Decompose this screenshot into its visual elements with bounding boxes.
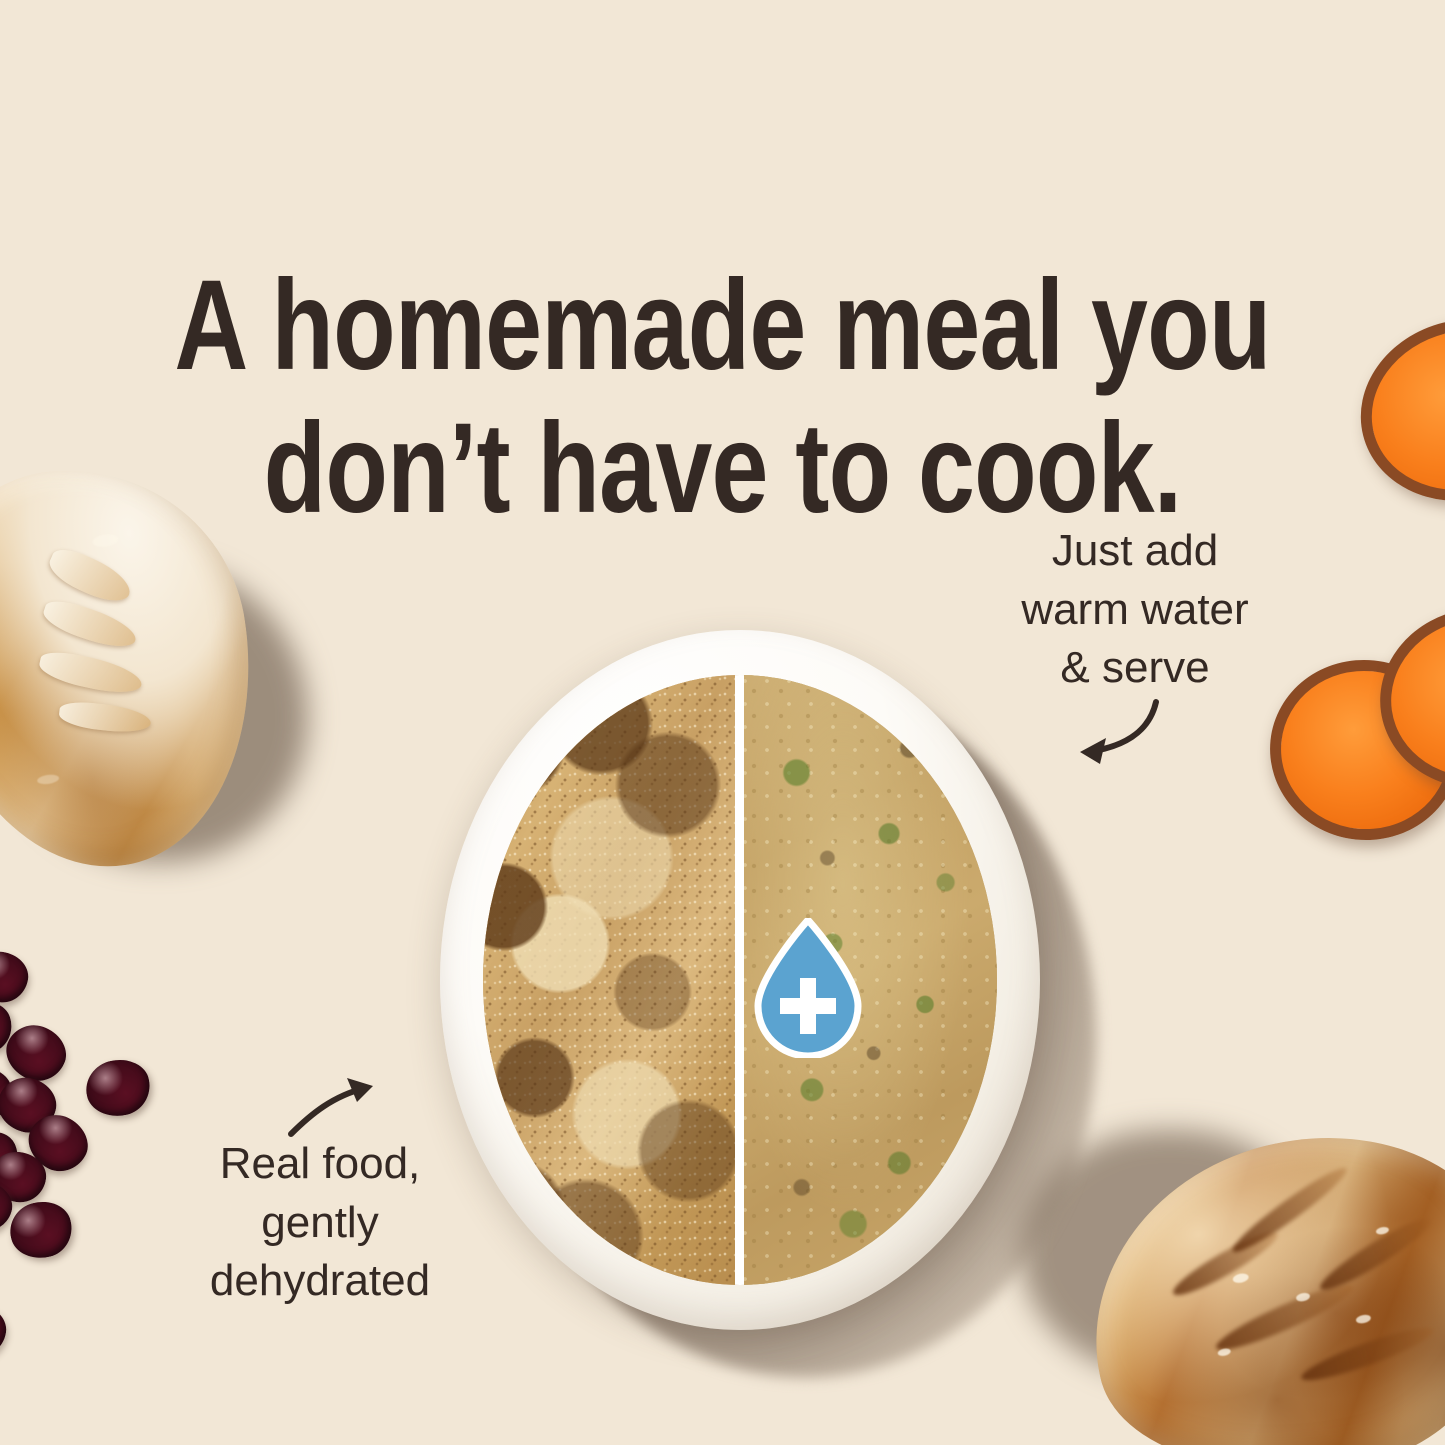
callout-left-line-1: Real food,: [150, 1135, 490, 1194]
callout-just-add-water: Just add warm water & serve: [950, 522, 1320, 698]
callout-left-line-3: dehydrated: [150, 1252, 490, 1311]
bowl-half-dehydrated: [483, 675, 740, 1285]
bowl-contents: [483, 675, 997, 1285]
page-title: A homemade meal you don’t have to cook.: [145, 254, 1301, 541]
split-divider: [735, 675, 744, 1285]
callout-right-line-1: Just add: [950, 522, 1320, 581]
split-bowl-hero: [400, 600, 1100, 1360]
curved-arrow-up-right-icon: [285, 1068, 400, 1143]
callout-left-line-2: gently: [150, 1194, 490, 1253]
roasted-chicken-breast: [1040, 1120, 1445, 1445]
product-graphic: A homemade meal you don’t have to cook. …: [0, 0, 1445, 1445]
callout-right-line-2: warm water: [950, 581, 1320, 640]
water-drop-plus-icon: [750, 918, 866, 1058]
callout-right-line-3: & serve: [950, 639, 1320, 698]
headline-line-1: A homemade meal you: [145, 254, 1301, 397]
curved-arrow-down-left-icon: [1042, 690, 1172, 780]
bowl: [440, 630, 1040, 1330]
callout-real-food: Real food, gently dehydrated: [150, 1135, 490, 1311]
headline-line-2: don’t have to cook.: [145, 397, 1301, 540]
